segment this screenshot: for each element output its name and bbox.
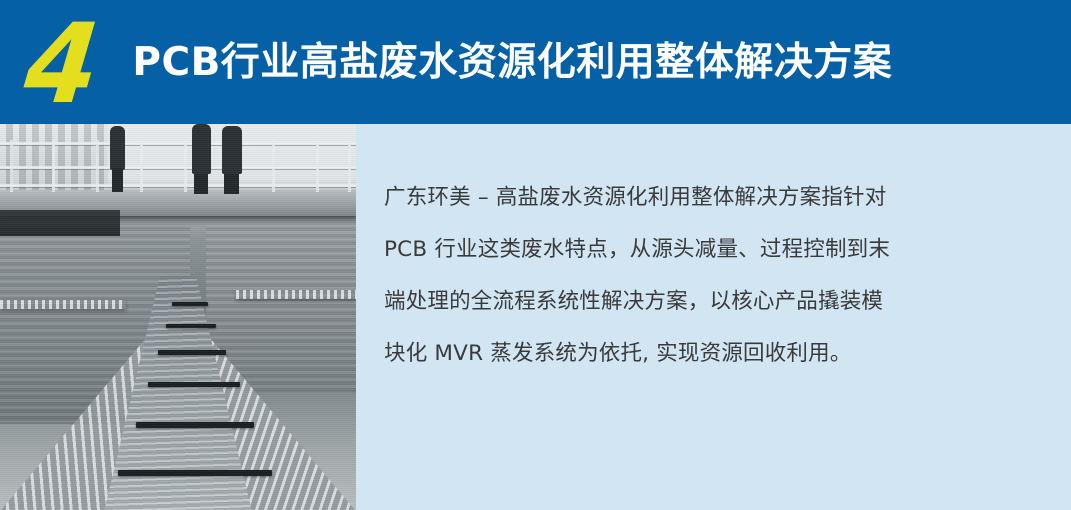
photo-rail-post: [184, 140, 187, 192]
photo-far-weir: [0, 300, 126, 309]
photo-cross-beam: [166, 324, 216, 328]
photo-person-legs: [194, 174, 208, 194]
photo-rail-post: [96, 140, 99, 192]
description-line: 块化 MVR 蒸发系统为依托, 实现资源回收利用。: [384, 328, 1034, 380]
photo-cross-beam: [158, 350, 226, 355]
photo-cross-beam: [148, 382, 240, 387]
photo-person: [222, 126, 242, 174]
section-number: 4: [20, 9, 102, 119]
photo-rail-post: [52, 140, 55, 192]
photo-rail-post: [272, 140, 275, 192]
photo-canvas: [0, 124, 356, 510]
header-bar: 4 PCB行业高盐废水资源化利用整体解决方案: [0, 0, 1071, 124]
photo-person-legs: [112, 168, 123, 192]
facility-photo: [0, 124, 356, 510]
photo-cross-beam: [118, 470, 272, 476]
photo-cross-beam: [172, 302, 208, 306]
photo-rail-post: [10, 140, 13, 192]
photo-far-weir: [236, 290, 356, 299]
description-line: PCB 行业这类废水特点，从源头减量、过程控制到末: [384, 224, 1034, 276]
photo-rail-post: [348, 140, 351, 192]
photo-rail-post: [140, 140, 143, 192]
photo-rail-post: [316, 140, 319, 192]
photo-person-legs: [224, 174, 239, 194]
description-line: 广东环美 – 高盐废水资源化利用整体解决方案指针对: [384, 172, 1034, 224]
photo-tank-wall: [0, 210, 120, 236]
slide-root: 4 PCB行业高盐废水资源化利用整体解决方案: [0, 0, 1071, 510]
photo-cross-beam: [136, 422, 254, 428]
description-line: 端处理的全流程系统性解决方案，以核心产品撬装模: [384, 276, 1034, 328]
description-panel: 广东环美 – 高盐废水资源化利用整体解决方案指针对 PCB 行业这类废水特点，从…: [356, 124, 1071, 510]
page-title: PCB行业高盐废水资源化利用整体解决方案: [132, 41, 892, 85]
description-text: 广东环美 – 高盐废水资源化利用整体解决方案指针对 PCB 行业这类废水特点，从…: [384, 172, 1034, 380]
photo-person: [110, 126, 125, 170]
photo-person: [192, 124, 211, 174]
